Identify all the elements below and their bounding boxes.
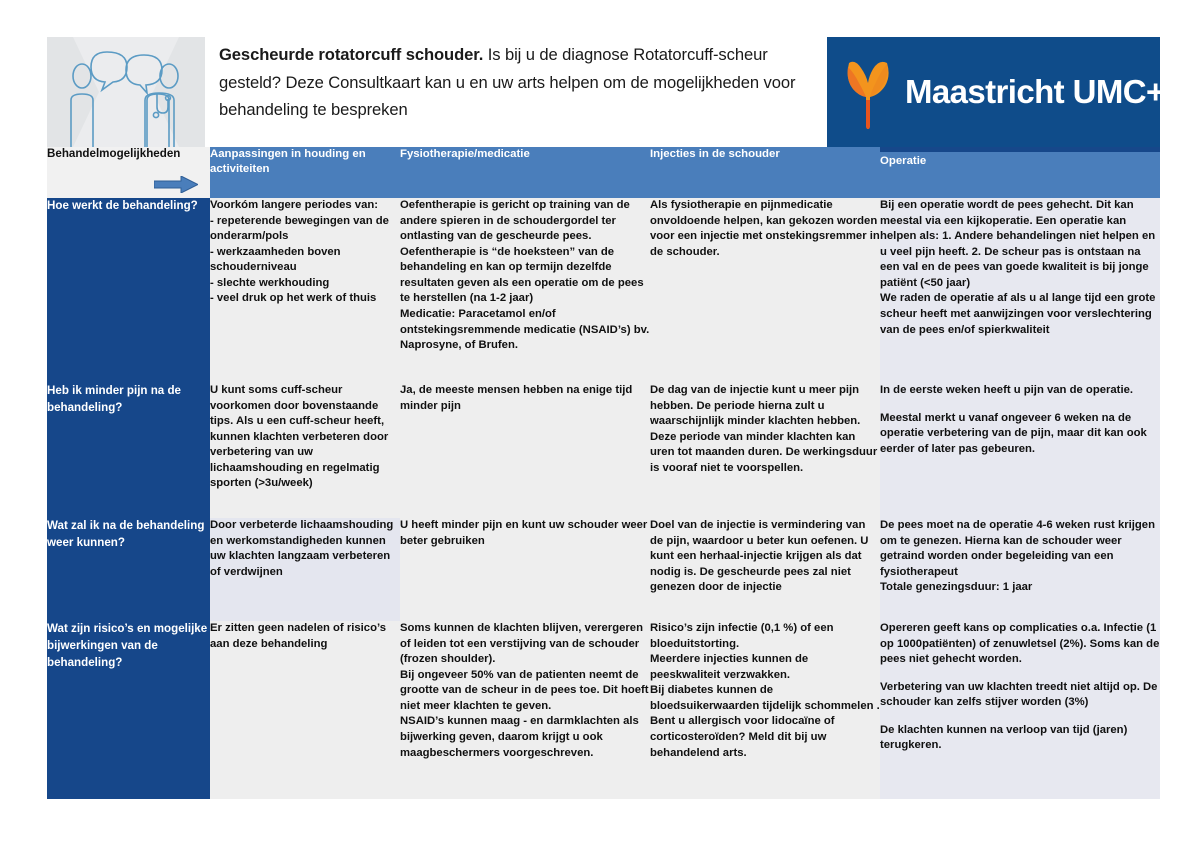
cell-fysiotherapie: Soms kunnen de klachten blijven, vererge… (400, 621, 650, 799)
cell-fysiotherapie: U heeft minder pijn en kunt uw schouder … (400, 518, 650, 621)
page-title-bold: Gescheurde rotatorcuff schouder. (219, 45, 483, 64)
cell-paragraph: In de eerste weken heeft u pijn van de o… (880, 383, 1160, 399)
tulip-logo-icon (841, 55, 893, 129)
row-question: Hoe werkt de behandeling? (47, 198, 210, 383)
cell-paragraph: Meestal merkt u vanaf ongeveer 6 weken n… (880, 411, 1160, 458)
cell-operatie: De pees moet na de operatie 4-6 weken ru… (880, 518, 1160, 621)
maastricht-umc-logo: Maastricht UMC+ (827, 37, 1160, 147)
table-header-row: Behandelmogelijkheden Aanpassingen in ho… (47, 147, 1160, 198)
header-accent-stripe (880, 147, 1160, 152)
cell-injecties: Als fysiotherapie en pijnmedicatie onvol… (650, 198, 880, 383)
column-header-fysiotherapie: Fysiotherapie/medicatie (400, 147, 650, 198)
table-row: Heb ik minder pijn na de behandeling? U … (47, 383, 1160, 518)
logo-wordmark: Maastricht UMC+ (905, 73, 1165, 111)
table-row: Hoe werkt de behandeling? Voorkóm langer… (47, 198, 1160, 383)
treatment-options-table: Behandelmogelijkheden Aanpassingen in ho… (47, 147, 1160, 799)
cell-operatie: In de eerste weken heeft u pijn van de o… (880, 383, 1160, 518)
cell-paragraph: Opereren geeft kans op complicaties o.a.… (880, 621, 1160, 668)
column-header-aanpassingen: Aanpassingen in houding en activiteiten (210, 147, 400, 198)
cell-injecties: De dag van de injectie kunt u meer pijn … (650, 383, 880, 518)
cell-operatie: Opereren geeft kans op complicaties o.a.… (880, 621, 1160, 799)
column-header-label: Behandelmogelijkheden (47, 147, 180, 160)
column-header-injecties: Injecties in de schouder (650, 147, 880, 198)
cell-aanpassingen: Door verbeterde lichaamshouding en werko… (210, 518, 400, 621)
cell-aanpassingen: Voorkóm langere periodes van: - repetere… (210, 198, 400, 383)
cell-injecties: Doel van de injectie is vermindering van… (650, 518, 880, 621)
arrow-right-icon (154, 176, 198, 193)
cell-injecties: Risico’s zijn infectie (0,1 %) of een bl… (650, 621, 880, 799)
cell-fysiotherapie: Oefentherapie is gericht op training van… (400, 198, 650, 383)
column-header-behandelmogelijkheden: Behandelmogelijkheden (47, 147, 210, 198)
row-question: Wat zal ik na de behandeling weer kunnen… (47, 518, 210, 621)
cell-aanpassingen: Er zitten geen nadelen of risico’s aan d… (210, 621, 400, 799)
table-row: Wat zijn risico’s en mogelijke bijwerkin… (47, 621, 1160, 799)
row-question: Heb ik minder pijn na de behandeling? (47, 383, 210, 518)
cell-aanpassingen: U kunt soms cuff-scheur voorkomen door b… (210, 383, 400, 518)
consultkaart-page: Gescheurde rotatorcuff schouder. Is bij … (0, 0, 1200, 848)
row-question: Wat zijn risico’s en mogelijke bijwerkin… (47, 621, 210, 799)
cell-paragraph: Verbetering van uw klachten treedt niet … (880, 680, 1160, 711)
cell-fysiotherapie: Ja, de meeste mensen hebben na enige tij… (400, 383, 650, 518)
column-header-operatie: Operatie (880, 147, 1160, 198)
patient-doctor-illustration (47, 37, 205, 147)
table-row: Wat zal ik na de behandeling weer kunnen… (47, 518, 1160, 621)
cell-operatie: Bij een operatie wordt de pees gehecht. … (880, 198, 1160, 383)
page-title: Gescheurde rotatorcuff schouder. Is bij … (205, 37, 827, 147)
column-header-label: Operatie (880, 155, 926, 167)
page-header: Gescheurde rotatorcuff schouder. Is bij … (47, 37, 1160, 147)
cell-paragraph: De klachten kunnen na verloop van tijd (… (880, 723, 1160, 754)
